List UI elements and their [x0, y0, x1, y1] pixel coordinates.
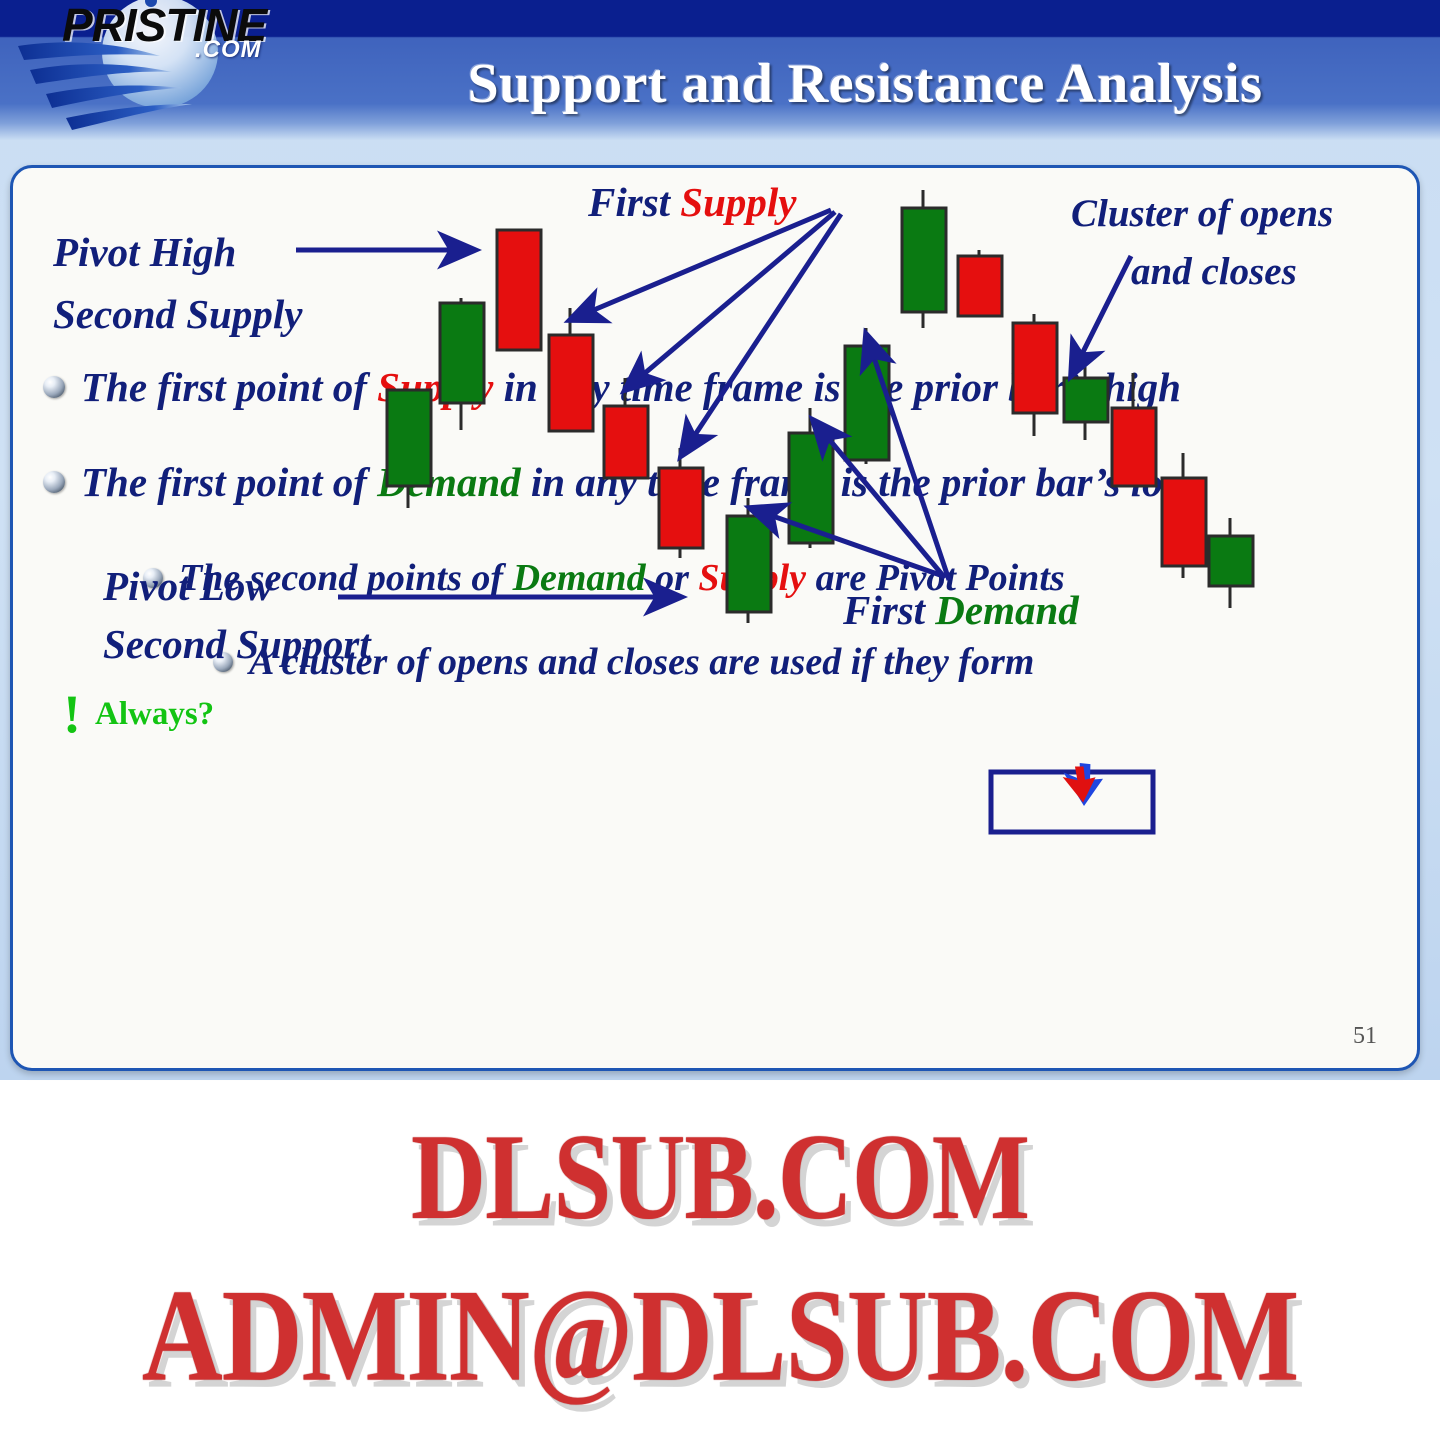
candle-9-up: [845, 328, 889, 464]
candle-14-down: [1112, 373, 1156, 486]
candle-10-up: [902, 190, 946, 328]
pivot-low-label-line2: Second Support: [103, 621, 372, 667]
watermark-site: DLSUB.COM: [0, 1107, 1440, 1247]
slide: PRISTINE .COM Support and Resistance Ana…: [0, 0, 1440, 1080]
logo-domain-suffix: .COM: [195, 36, 262, 64]
content-panel: The first point of Supply in any time fr…: [10, 165, 1420, 1071]
mouse-cursor-arrow-icon: [1054, 755, 1106, 808]
candle-6-down: [659, 448, 703, 558]
candle-4-down: [549, 308, 593, 431]
first-supply-arrow-1: [570, 210, 831, 320]
candle-13-up: [1064, 358, 1108, 440]
candle-15-down: [1162, 453, 1206, 578]
candle-12-down: [1013, 314, 1057, 436]
pivot-low-label-line1: Pivot Low: [102, 563, 273, 609]
candle-series: [387, 190, 1253, 623]
page-number: 51: [1353, 1023, 1377, 1050]
watermark-email: ADMIN@DLSUB.COM: [0, 1260, 1440, 1412]
candle-3-down: [497, 230, 541, 350]
cluster-label-line1: Cluster of opens: [1071, 192, 1333, 235]
cluster-label-line2: and closes: [1131, 250, 1297, 293]
pivot-high-label-line1: Pivot High: [52, 229, 236, 275]
candle-7-up: [727, 498, 771, 623]
cluster-pointer-arrow: [1071, 256, 1131, 376]
pristine-logo: PRISTINE .COM: [10, 0, 310, 144]
first-demand-label: First Demand: [842, 587, 1079, 633]
candle-11-down: [958, 250, 1002, 316]
pivot-high-label-line2: Second Supply: [53, 291, 303, 337]
first-supply-label: First Supply: [587, 179, 797, 225]
page-title: Support and Resistance Analysis: [300, 52, 1430, 116]
candlestick-chart: Pivot High Second Supply Pivot Low Secon…: [13, 168, 1417, 1062]
candle-1-up: [387, 390, 431, 508]
candle-5-down: [604, 378, 648, 478]
candle-16-up: [1209, 518, 1253, 608]
candle-2-up: [440, 298, 484, 430]
first-supply-arrow-3: [681, 214, 841, 456]
first-supply-arrow-2: [625, 212, 835, 390]
